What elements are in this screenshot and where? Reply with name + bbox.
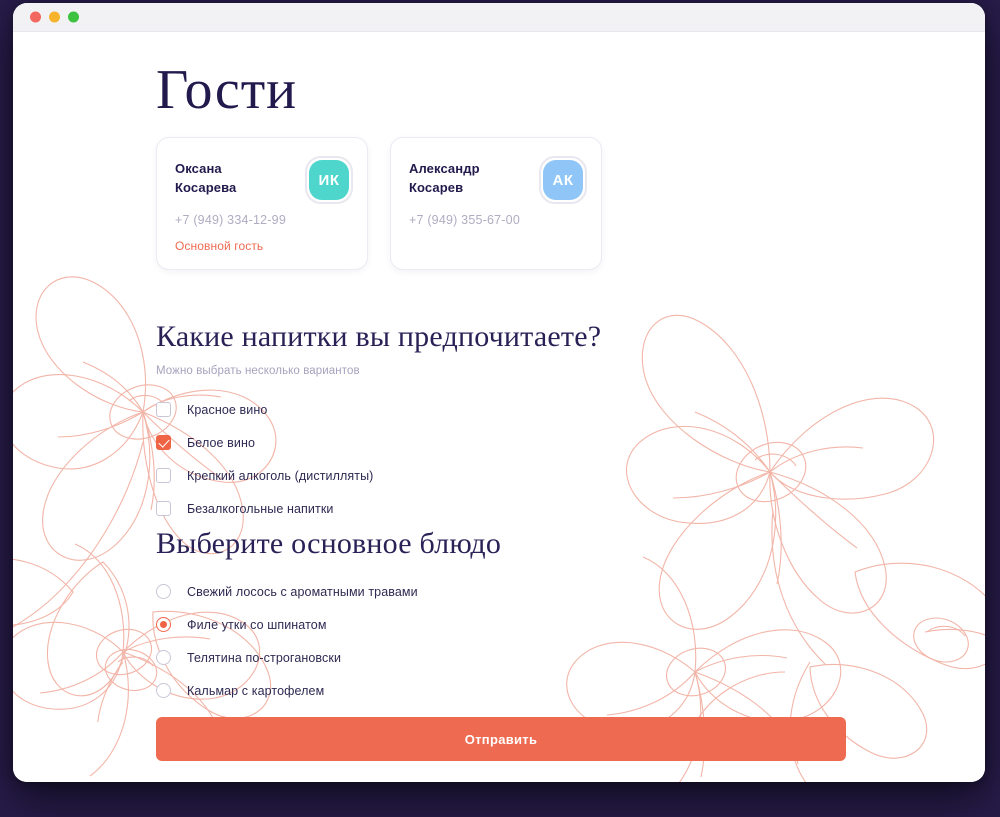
- checkbox-option-label: Белое вино: [187, 436, 255, 450]
- checkbox-option-row[interactable]: Безалкогольные напитки: [156, 492, 373, 525]
- guest-name-line1: Оксана: [175, 160, 295, 179]
- main-dish-option-list: Свежий лосось с ароматными травами Филе …: [156, 575, 418, 707]
- close-window-button[interactable]: [30, 12, 41, 23]
- checkbox-option-label: Красное вино: [187, 403, 267, 417]
- guest-name: Оксана Косарева: [175, 160, 295, 198]
- guest-name-line2: Косарев: [409, 179, 529, 198]
- traffic-lights: [30, 12, 79, 23]
- checkbox-option-label: Крепкий алкоголь (дистилляты): [187, 469, 373, 483]
- checkbox-unchecked-icon[interactable]: [156, 501, 171, 516]
- avatar[interactable]: ИК: [305, 156, 353, 204]
- checkbox-option-row[interactable]: Белое вино: [156, 426, 373, 459]
- guest-card-list: Оксана Косарева +7 (949) 334-12-99 Основ…: [156, 137, 602, 270]
- radio-selected-icon[interactable]: [156, 617, 171, 632]
- radio-option-row[interactable]: Кальмар с картофелем: [156, 674, 418, 707]
- avatar[interactable]: АК: [539, 156, 587, 204]
- checkbox-unchecked-icon[interactable]: [156, 468, 171, 483]
- page-canvas: Гости Оксана Косарева +7 (949) 334-12-99…: [13, 32, 985, 782]
- minimize-window-button[interactable]: [49, 12, 60, 23]
- checkbox-checked-icon[interactable]: [156, 435, 171, 450]
- drinks-section-title: Какие напитки вы предпочитаете?: [156, 320, 601, 354]
- radio-option-row[interactable]: Филе утки со шпинатом: [156, 608, 418, 641]
- floral-decoration-right: [555, 272, 985, 782]
- guest-name-line2: Косарева: [175, 179, 295, 198]
- checkbox-option-row[interactable]: Крепкий алкоголь (дистилляты): [156, 459, 373, 492]
- radio-option-label: Телятина по-строгановски: [187, 651, 341, 665]
- radio-option-label: Кальмар с картофелем: [187, 684, 324, 698]
- radio-unselected-icon[interactable]: [156, 683, 171, 698]
- browser-window: Гости Оксана Косарева +7 (949) 334-12-99…: [13, 3, 985, 782]
- window-titlebar: [13, 3, 985, 32]
- main-dish-section-title: Выберите основное блюдо: [156, 527, 501, 561]
- guest-card[interactable]: Александр Косарев +7 (949) 355-67-00 АК: [390, 137, 602, 270]
- drinks-option-list: Красное вино Белое вино Крепкий алкоголь…: [156, 393, 373, 525]
- radio-option-row[interactable]: Свежий лосось с ароматными травами: [156, 575, 418, 608]
- radio-option-label: Свежий лосось с ароматными травами: [187, 585, 418, 599]
- radio-unselected-icon[interactable]: [156, 584, 171, 599]
- maximize-window-button[interactable]: [68, 12, 79, 23]
- radio-option-row[interactable]: Телятина по-строгановски: [156, 641, 418, 674]
- guest-phone: +7 (949) 334-12-99: [175, 213, 349, 227]
- checkbox-option-label: Безалкогольные напитки: [187, 502, 333, 516]
- radio-unselected-icon[interactable]: [156, 650, 171, 665]
- guest-name: Александр Косарев: [409, 160, 529, 198]
- guest-card[interactable]: Оксана Косарева +7 (949) 334-12-99 Основ…: [156, 137, 368, 270]
- avatar-initials: АК: [543, 160, 583, 200]
- guest-phone: +7 (949) 355-67-00: [409, 213, 583, 227]
- page-title: Гости: [156, 62, 297, 118]
- submit-button[interactable]: Отправить: [156, 717, 846, 761]
- checkbox-option-row[interactable]: Красное вино: [156, 393, 373, 426]
- avatar-initials: ИК: [309, 160, 349, 200]
- status-badge: Основной гость: [175, 239, 349, 253]
- guest-name-line1: Александр: [409, 160, 529, 179]
- radio-option-label: Филе утки со шпинатом: [187, 618, 327, 632]
- drinks-section-hint: Можно выбрать несколько вариантов: [156, 365, 360, 377]
- checkbox-unchecked-icon[interactable]: [156, 402, 171, 417]
